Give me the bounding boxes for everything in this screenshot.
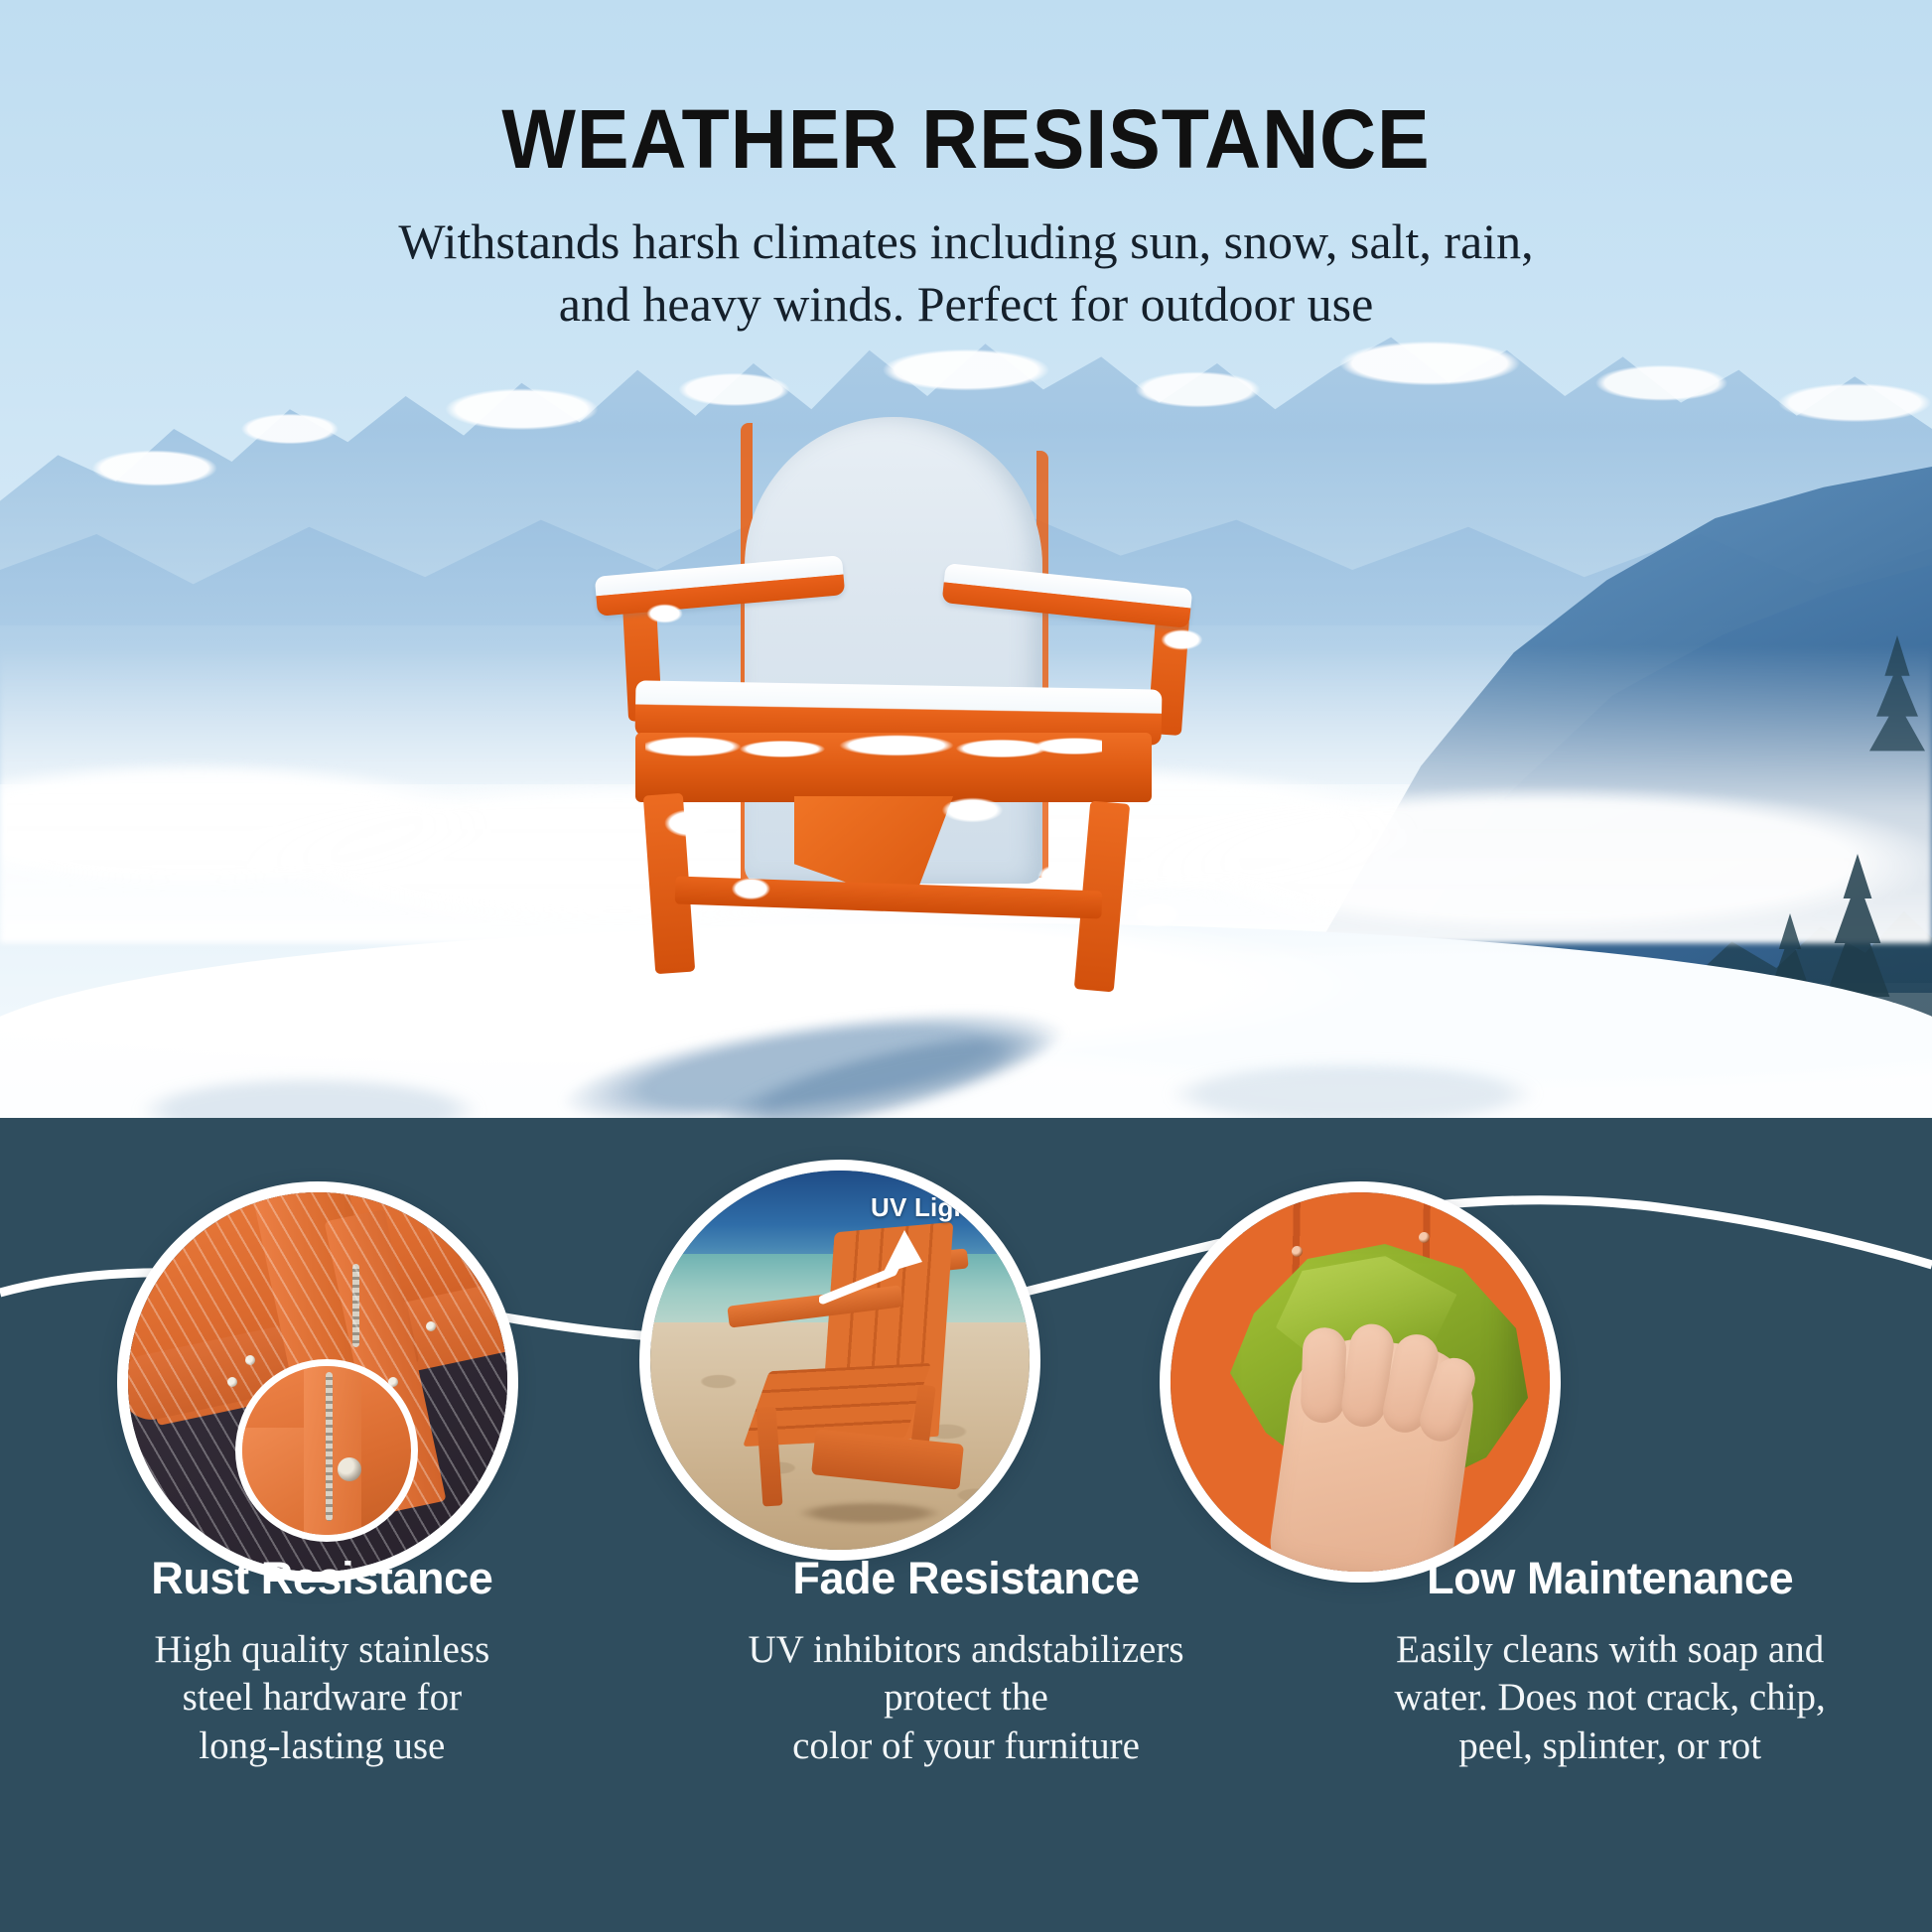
desc-line: Easily cleans with soap and [1313,1626,1906,1674]
chain-icon [326,1372,333,1521]
feature-card-description: High quality stainless steel hardware fo… [26,1626,619,1770]
desc-line: UV inhibitors andstabilizers [670,1626,1263,1674]
feature-card-title: Fade Resistance [670,1553,1263,1604]
subtitle-line-2: and heavy winds. Perfect for outdoor use [341,273,1591,336]
feature-card-fade-resistance: Fade Resistance UV inhibitors andstabili… [644,1553,1289,1880]
page-title: WEATHER RESISTANCE [58,97,1873,181]
chain-icon [352,1264,359,1347]
desc-line: High quality stainless [26,1626,619,1674]
screw-icon [245,1355,255,1365]
rust-zoom-inset [235,1359,418,1542]
desc-line: steel hardware for [26,1674,619,1722]
desc-line: color of your furniture [670,1723,1263,1770]
feature-image-low-maintenance [1160,1181,1561,1583]
desc-line: protect the [670,1674,1263,1722]
desc-line: water. Does not crack, chip, [1313,1674,1906,1722]
desc-line: peel, splinter, or rot [1313,1723,1906,1770]
feature-card-rust-resistance: Rust Resistance High quality stainless s… [0,1553,644,1880]
uv-light-label: UV Light [871,1192,978,1223]
header: WEATHER RESISTANCE Withstands harsh clim… [0,0,1932,336]
feature-image-rust-resistance [117,1181,518,1583]
feature-card-title: Rust Resistance [26,1553,619,1604]
screw-icon [227,1377,237,1387]
feature-card-description: UV inhibitors andstabilizers protect the… [670,1626,1263,1770]
infographic-canvas: WEATHER RESISTANCE Withstands harsh clim… [0,0,1932,1932]
desc-line: long-lasting use [26,1723,619,1770]
page-subtitle: Withstands harsh climates including sun,… [341,210,1591,336]
finger [1300,1326,1346,1423]
screw-icon [1419,1232,1430,1243]
feature-image-fade-resistance: UV Light [639,1160,1040,1561]
beach-chair-footrest [811,1429,964,1489]
bolt-icon [338,1457,361,1481]
feature-card-title: Low Maintenance [1313,1553,1906,1604]
beach-chair-shadow [775,1496,964,1530]
screw-icon [1292,1246,1303,1257]
uv-arrow-icon [819,1226,938,1317]
subtitle-line-1: Withstands harsh climates including sun,… [341,210,1591,273]
feature-card-description: Easily cleans with soap and water. Does … [1313,1626,1906,1770]
screw-icon [426,1321,436,1331]
feature-card-low-maintenance: Low Maintenance Easily cleans with soap … [1288,1553,1932,1880]
inset-column [304,1360,361,1542]
feature-cards: Rust Resistance High quality stainless s… [0,1553,1932,1880]
